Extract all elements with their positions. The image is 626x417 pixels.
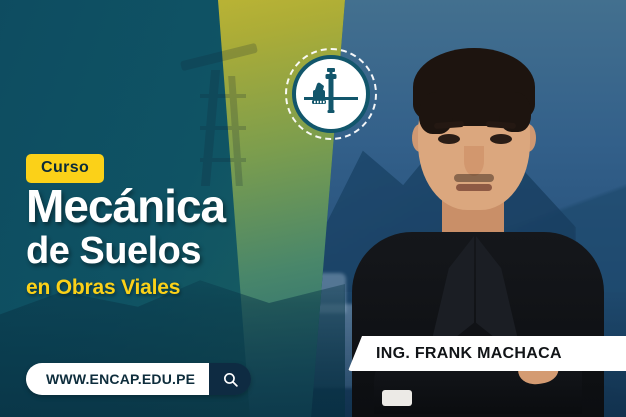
- drilling-rig-silhouette: [176, 36, 268, 186]
- course-title-line2: de Suelos: [26, 232, 201, 270]
- course-title-line1: Mecánica: [26, 183, 225, 229]
- course-logo-badge: [285, 48, 377, 140]
- instructor-name-label: ING. FRANK MACHACA: [376, 345, 562, 363]
- course-title-line3: en Obras Viales: [26, 276, 180, 300]
- logo-disc: [292, 55, 370, 133]
- website-url-pill[interactable]: WWW.ENCAP.EDU.PE: [26, 363, 251, 395]
- instructor-name-bar: ING. FRANK MACHACA: [348, 336, 626, 371]
- curso-badge: Curso: [26, 154, 104, 183]
- course-promo-banner: Curso Mecánica de Suelos en Obras Viales…: [0, 0, 626, 417]
- search-icon[interactable]: [209, 363, 251, 395]
- website-url-label: WWW.ENCAP.EDU.PE: [26, 363, 209, 395]
- pile-driver-rig-icon: [296, 59, 366, 129]
